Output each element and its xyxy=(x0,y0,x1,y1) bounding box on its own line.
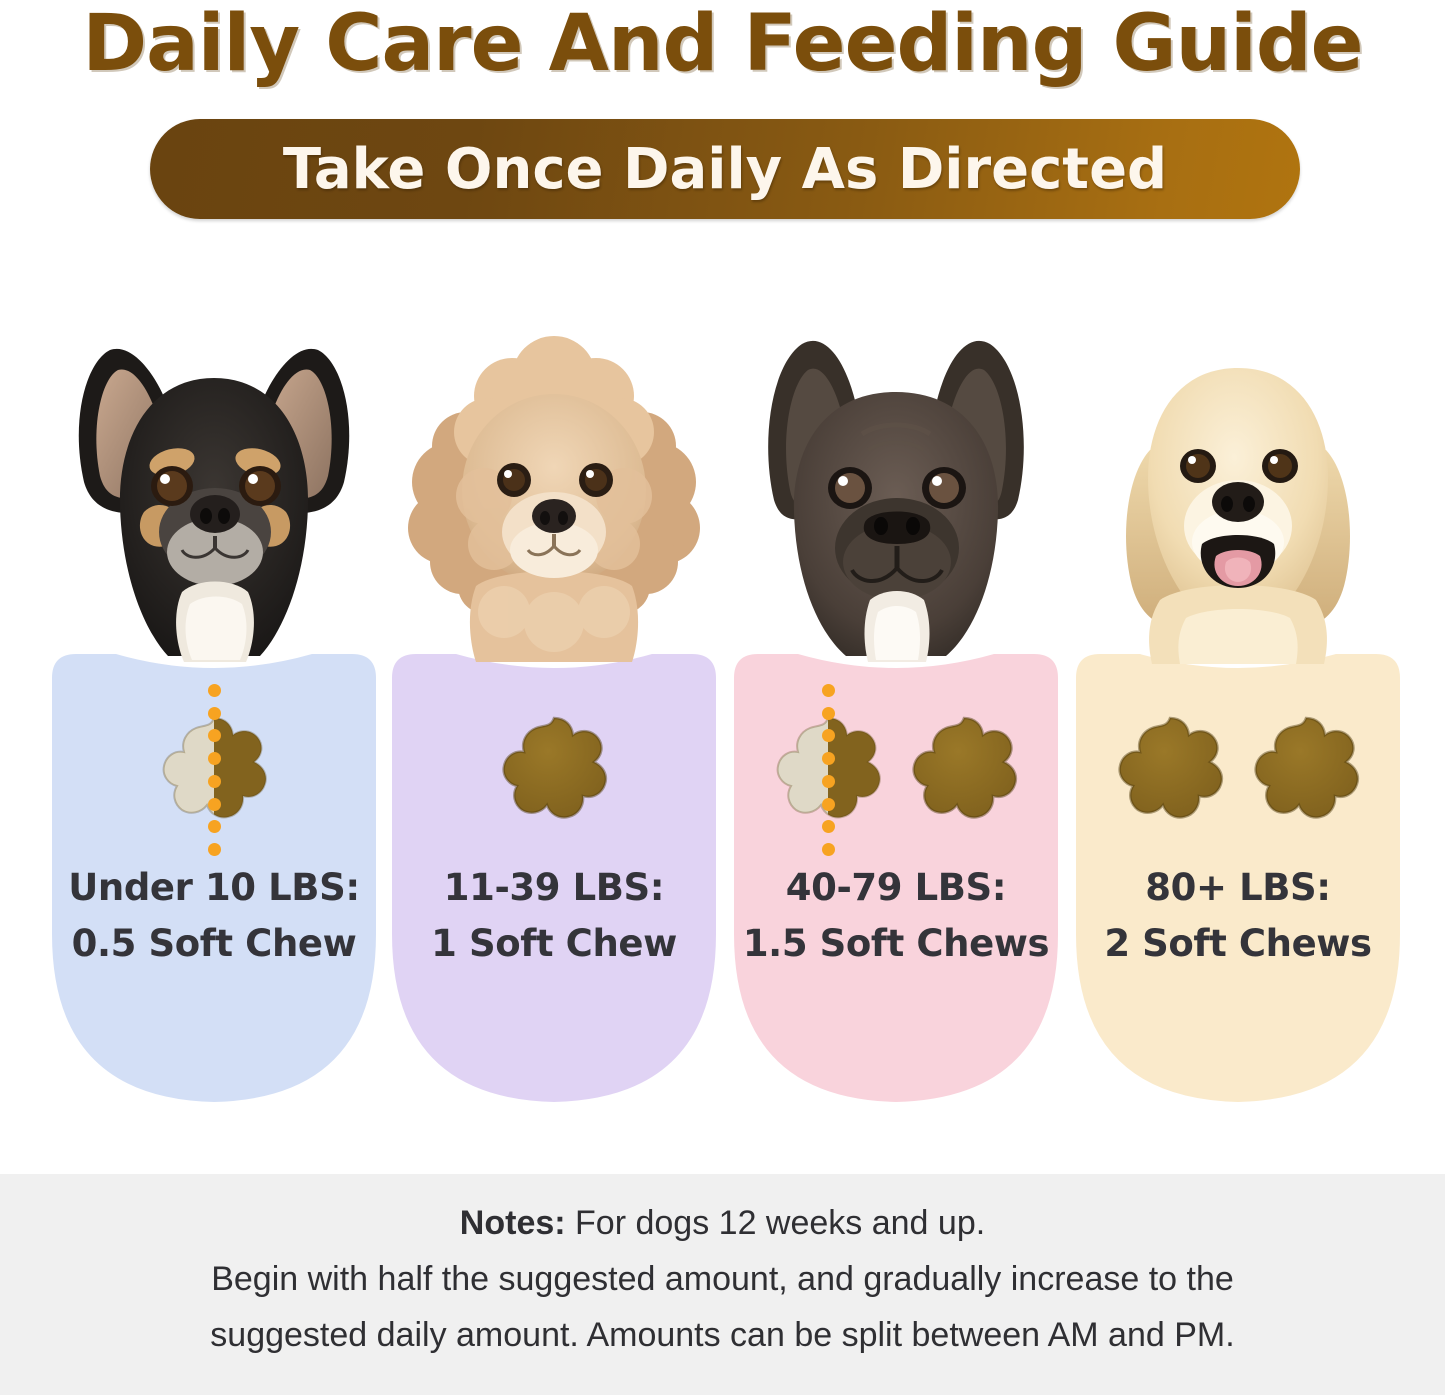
chew-half xyxy=(769,710,887,828)
weight-range-label: 40-79 LBS: xyxy=(786,866,1006,909)
directions-badge-label: Take Once Daily As Directed xyxy=(283,137,1167,202)
chew-full xyxy=(495,710,613,828)
dosage-card-11-39-lbs[interactable]: 11-39 LBS: 1 Soft Chew xyxy=(392,300,716,1110)
dosage-cards: Under 10 LBS: 0.5 Soft Chew xyxy=(0,300,1445,1110)
dose-label: 0.5 Soft Chew xyxy=(58,916,370,972)
marker-dot xyxy=(822,707,835,720)
marker-dot xyxy=(822,798,835,811)
card-content-11-39-lbs: 11-39 LBS: 1 Soft Chew xyxy=(392,648,716,1104)
dosage-card-40-79-lbs[interactable]: 40-79 LBS: 1.5 Soft Chews xyxy=(734,300,1058,1110)
chew-full xyxy=(905,710,1023,828)
weight-range-label: 11-39 LBS: xyxy=(444,866,664,909)
card-label-under-10-lbs: Under 10 LBS: 0.5 Soft Chew xyxy=(58,860,370,972)
directions-badge: Take Once Daily As Directed xyxy=(150,119,1300,219)
page-title: Daily Care And Feeding Guide xyxy=(0,2,1445,86)
chew-full xyxy=(1247,710,1365,828)
notes-section: Notes: For dogs 12 weeks and up. Begin w… xyxy=(0,1174,1445,1395)
marker-dot xyxy=(208,707,221,720)
split-marker-dots xyxy=(207,684,221,856)
marker-dot xyxy=(822,752,835,765)
card-label-11-39-lbs: 11-39 LBS: 1 Soft Chew xyxy=(398,860,710,972)
marker-dot xyxy=(208,775,221,788)
dosage-card-under-10-lbs[interactable]: Under 10 LBS: 0.5 Soft Chew xyxy=(52,300,376,1110)
dosage-card-80-plus-lbs[interactable]: 80+ LBS: 2 Soft Chews xyxy=(1076,300,1400,1110)
dose-label: 2 Soft Chews xyxy=(1082,916,1394,972)
marker-dot xyxy=(822,729,835,742)
notes-line-3: suggested daily amount. Amounts can be s… xyxy=(72,1308,1373,1364)
weight-range-label: 80+ LBS: xyxy=(1145,866,1330,909)
notes-line-1-rest: For dogs 12 weeks and up. xyxy=(566,1204,986,1242)
notes-line-1: Notes: For dogs 12 weeks and up. xyxy=(72,1196,1373,1252)
marker-dot xyxy=(822,843,835,856)
card-label-80-plus-lbs: 80+ LBS: 2 Soft Chews xyxy=(1082,860,1394,972)
marker-dot xyxy=(208,684,221,697)
marker-dot xyxy=(208,798,221,811)
page-header: Daily Care And Feeding Guide Take Once D… xyxy=(0,0,1445,232)
dog-photo-french-bulldog xyxy=(734,300,1058,668)
notes-line-2: Begin with half the suggested amount, an… xyxy=(72,1252,1373,1308)
weight-range-label: Under 10 LBS: xyxy=(68,866,360,909)
dose-label: 1.5 Soft Chews xyxy=(740,916,1052,972)
marker-dot xyxy=(822,775,835,788)
split-marker-dots xyxy=(821,684,835,856)
marker-dot xyxy=(822,684,835,697)
dose-label: 1 Soft Chew xyxy=(398,916,710,972)
marker-dot xyxy=(208,752,221,765)
dog-photo-golden-retriever xyxy=(1076,300,1400,668)
chew-illustration-group xyxy=(392,684,716,854)
notes-text: Notes: For dogs 12 weeks and up. Begin w… xyxy=(72,1196,1373,1363)
chew-half xyxy=(155,710,273,828)
chew-illustration-group xyxy=(52,684,376,854)
marker-dot xyxy=(208,820,221,833)
chew-illustration-group xyxy=(1076,684,1400,854)
chew-illustration-group xyxy=(734,684,1058,854)
dog-photo-poodle xyxy=(392,300,716,668)
notes-label: Notes: xyxy=(460,1204,566,1242)
chew-full xyxy=(1111,710,1229,828)
card-content-40-79-lbs: 40-79 LBS: 1.5 Soft Chews xyxy=(734,648,1058,1104)
card-content-under-10-lbs: Under 10 LBS: 0.5 Soft Chew xyxy=(52,648,376,1104)
marker-dot xyxy=(208,843,221,856)
dog-photo-chihuahua xyxy=(52,300,376,668)
card-content-80-plus-lbs: 80+ LBS: 2 Soft Chews xyxy=(1076,648,1400,1104)
marker-dot xyxy=(208,729,221,742)
marker-dot xyxy=(822,820,835,833)
card-label-40-79-lbs: 40-79 LBS: 1.5 Soft Chews xyxy=(740,860,1052,972)
